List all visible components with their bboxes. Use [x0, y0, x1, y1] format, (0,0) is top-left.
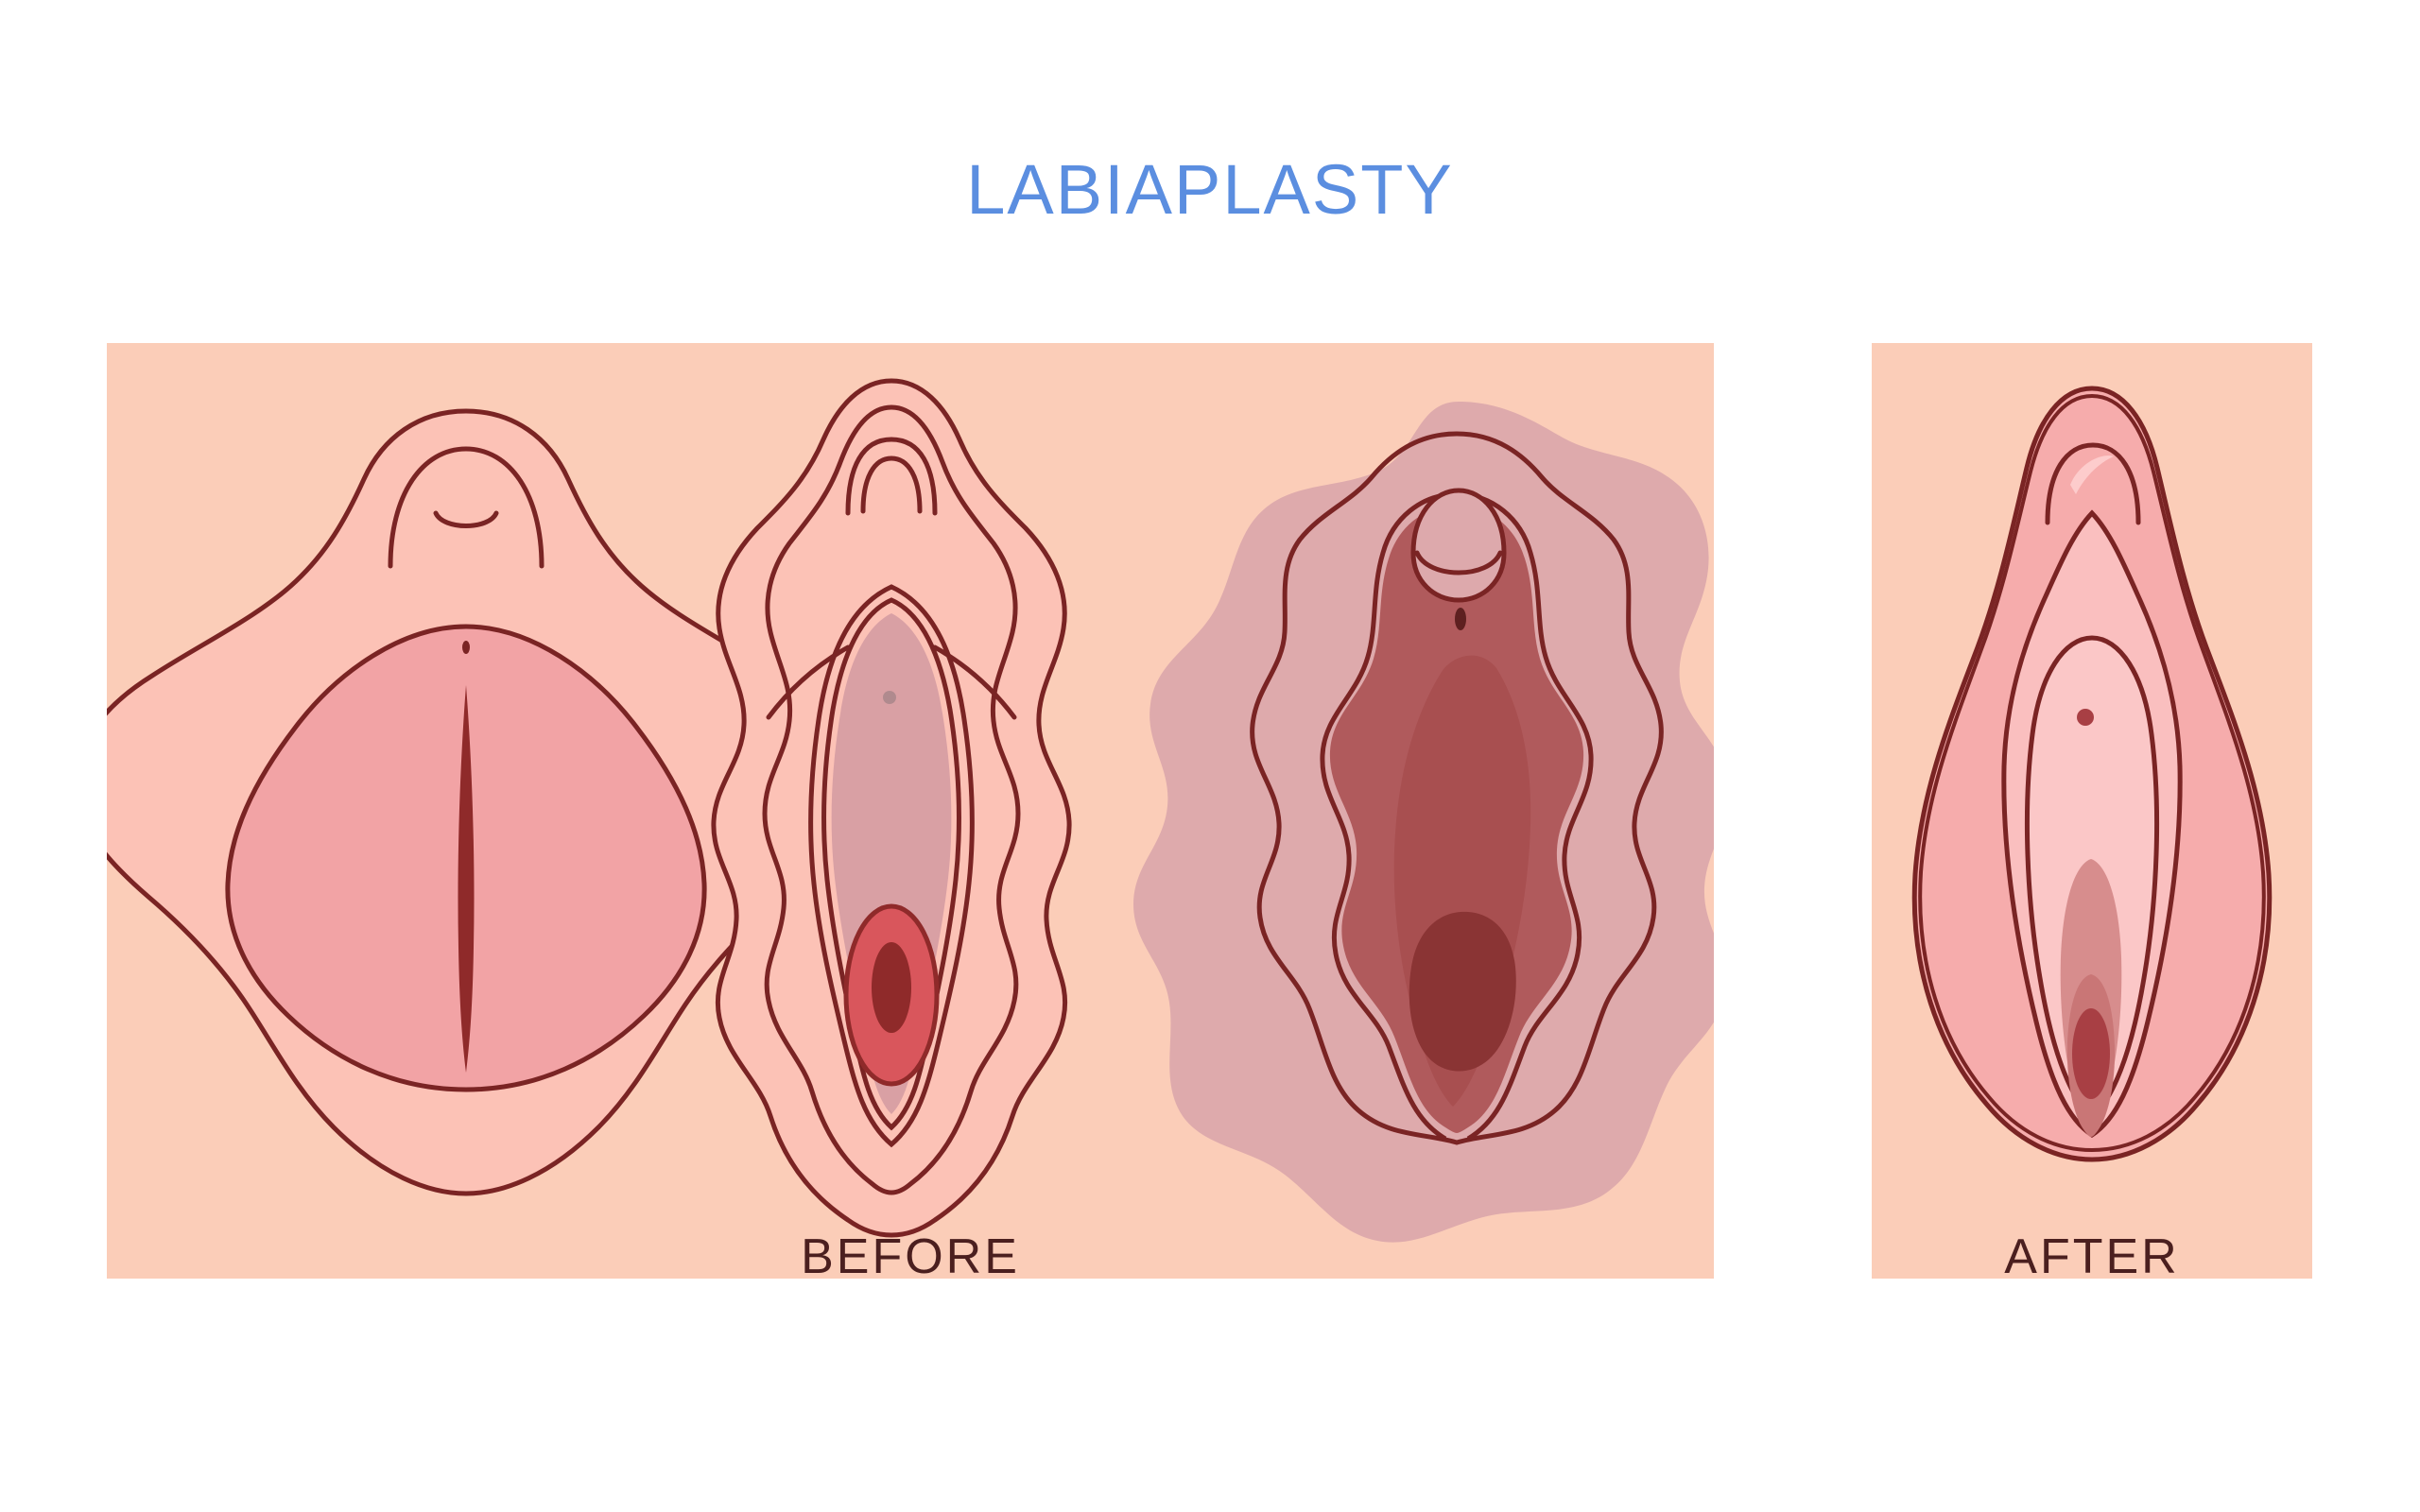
- figure-2-urethral-dot: [883, 691, 896, 704]
- after-caption: AFTER: [1872, 1228, 2312, 1285]
- figure-3-urethral-dot: [1455, 608, 1466, 630]
- after-panel: [1872, 343, 2312, 1279]
- before-caption: BEFORE: [107, 1228, 1714, 1285]
- before-figures-svg: [107, 343, 1714, 1279]
- figure-2-vaginal-opening-inner: [872, 942, 911, 1033]
- figure-4-urethral-dot: [2077, 709, 2094, 726]
- figure-4-vaginal-opening-dark: [2072, 1008, 2110, 1099]
- figure-2-wavy-protruding-labia: [714, 381, 1069, 1235]
- after-figure-svg: [1872, 343, 2312, 1279]
- figure-3-hypertrophic-labia: [1133, 402, 1714, 1243]
- figure-3-clitoral-hood: [1413, 490, 1504, 600]
- figure-4-post-surgery-vulva: [1914, 388, 2270, 1160]
- figure-1-urethral-dot: [462, 641, 470, 654]
- labiaplasty-infographic: LABIAPLASTY: [0, 0, 2420, 1512]
- before-panel: [107, 343, 1714, 1279]
- page-title: LABIAPLASTY: [0, 149, 2420, 230]
